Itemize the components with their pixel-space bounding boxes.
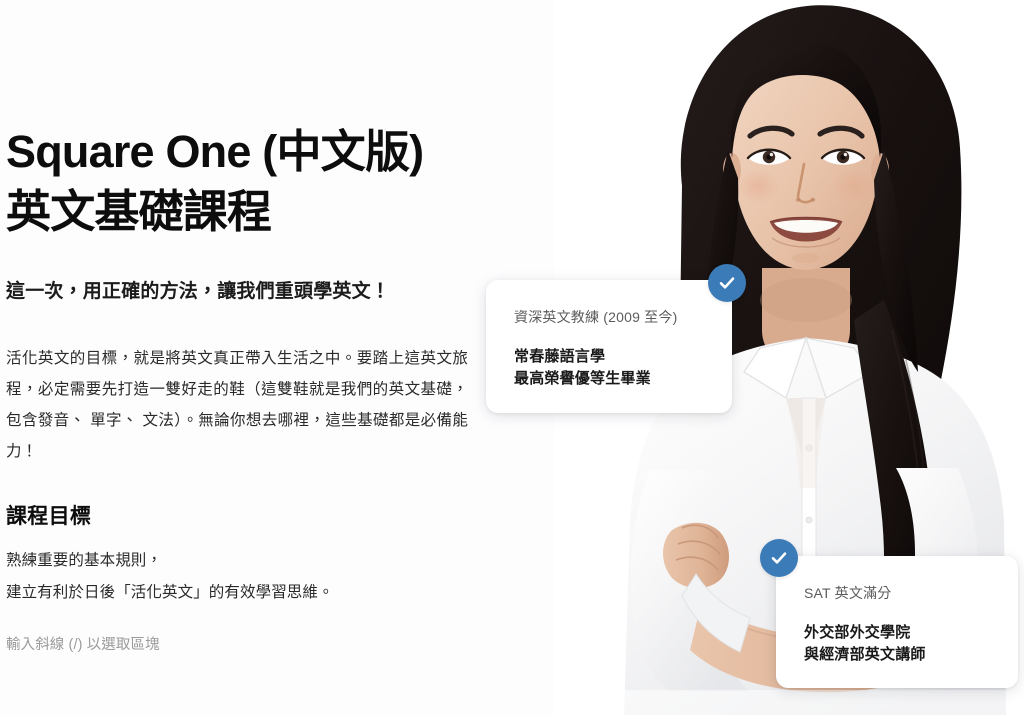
page-title: Square One (中文版) 英文基礎課程 <box>6 122 476 242</box>
section-heading-course-goals: 課程目標 <box>6 500 91 530</box>
hero-body-paragraph: 活化英文的目標，就是將英文真正帶入生活之中。要踏上這英文旅程，必定需要先打造一雙… <box>6 343 468 467</box>
credential-card-1-eyebrow: 資深英文教練 (2009 至今) <box>514 308 706 328</box>
course-text-column: Square One (中文版) 英文基礎課程 這一次，用正確的方法，讓我們重頭… <box>0 0 470 715</box>
credential-card-1: 資深英文教練 (2009 至今) 常春藤語言學 最高榮譽優等生畢業 <box>486 280 732 413</box>
hero-subtitle: 這一次，用正確的方法，讓我們重頭學英文！ <box>6 278 466 307</box>
credential-card-1-detail: 常春藤語言學 最高榮譽優等生畢業 <box>514 346 706 392</box>
credential-card-2: SAT 英文滿分 外交部外交學院 與經濟部英文講師 <box>776 556 1018 688</box>
page-title-line-1: Square One (中文版) <box>6 122 476 182</box>
page-title-line-2: 英文基礎課程 <box>6 182 476 242</box>
credential-card-1-line-2: 最高榮譽優等生畢業 <box>514 368 706 391</box>
credential-card-1-line-1: 常春藤語言學 <box>514 346 706 369</box>
verified-check-icon <box>760 539 798 577</box>
credential-card-2-detail: 外交部外交學院 與經濟部英文講師 <box>804 622 992 668</box>
course-landing-page: Square One (中文版) 英文基礎課程 這一次，用正確的方法，讓我們重頭… <box>0 0 1024 715</box>
course-goal-line-1: 熟練重要的基本規則， <box>6 545 466 577</box>
course-goal-line-2: 建立有利於日後「活化英文」的有效學習思維。 <box>6 577 466 609</box>
block-editor-placeholder[interactable]: 輸入斜線 (/) 以選取區塊 <box>6 633 160 654</box>
credential-card-2-eyebrow: SAT 英文滿分 <box>804 584 992 604</box>
verified-check-icon <box>708 264 746 302</box>
credential-card-2-line-1: 外交部外交學院 <box>804 622 992 645</box>
course-goals-list: 熟練重要的基本規則， 建立有利於日後「活化英文」的有效學習思維。 <box>6 545 466 609</box>
credential-card-2-line-2: 與經濟部英文講師 <box>804 644 992 667</box>
